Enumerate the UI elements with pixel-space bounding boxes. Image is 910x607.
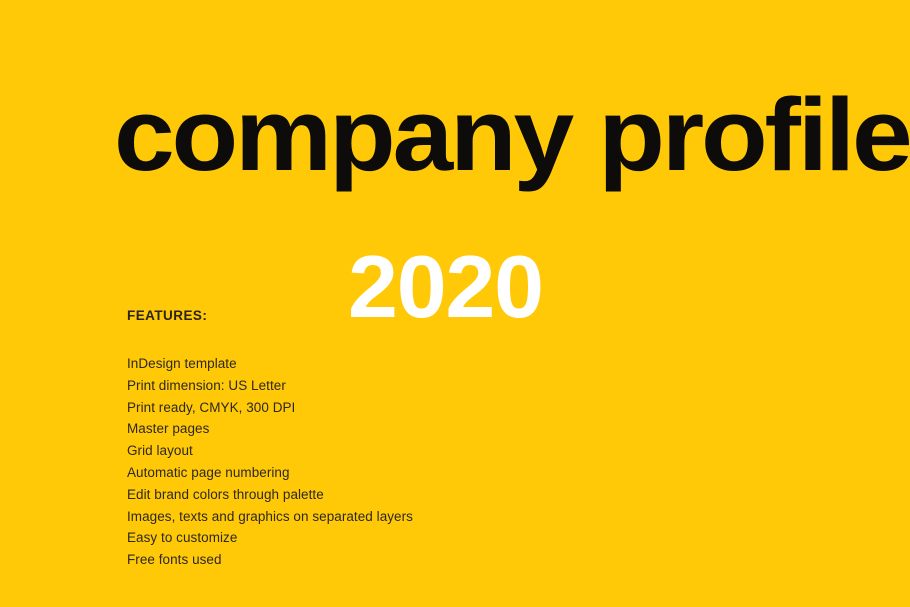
list-item: Print ready, CMYK, 300 DPI — [127, 397, 557, 419]
list-item: InDesign template — [127, 353, 557, 375]
list-item: Edit brand colors through palette — [127, 484, 557, 506]
list-item: Free fonts used — [127, 549, 557, 571]
page-title: company profile — [114, 83, 910, 186]
list-item: Master pages — [127, 418, 557, 440]
list-item: Grid layout — [127, 440, 557, 462]
list-item: Automatic page numbering — [127, 462, 557, 484]
features-list: InDesign templatePrint dimension: US Let… — [127, 353, 557, 571]
list-item: Images, texts and graphics on separated … — [127, 506, 557, 528]
features-heading: FEATURES: — [127, 308, 557, 324]
poster-canvas: company profile 2020 FEATURES: InDesign … — [0, 0, 910, 607]
list-item: Easy to customize — [127, 527, 557, 549]
list-item: Print dimension: US Letter — [127, 375, 557, 397]
features-block: FEATURES: InDesign templatePrint dimensi… — [127, 308, 557, 571]
